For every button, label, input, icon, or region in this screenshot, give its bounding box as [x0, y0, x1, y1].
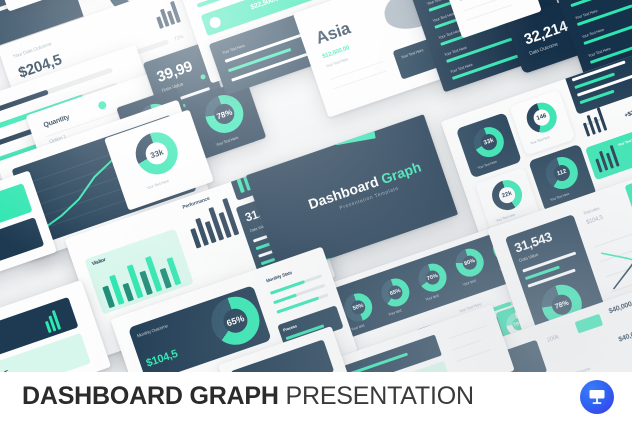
- banner-title: DASHBOARD GRAPH PRESENTATION: [22, 384, 474, 409]
- br-kpi-value-c: $40,000: [618, 329, 632, 343]
- total-sales-label: Total sales: [582, 206, 599, 216]
- performance-label: Performance: [182, 196, 211, 211]
- data-value-number: 39,99: [155, 58, 195, 86]
- gauge-value: 78%: [200, 90, 248, 138]
- banner-title-light: PRESENTATION: [285, 382, 473, 410]
- data-outcome-value: 32,214: [522, 18, 570, 49]
- br-kpi-value-a: 200k: [546, 334, 560, 344]
- title-banner: DASHBOARD GRAPH PRESENTATION: [0, 372, 632, 421]
- br-kpi-value-b: $40,000: [608, 301, 632, 315]
- total-sales-value: $104,5: [586, 215, 604, 226]
- gauge-caption: Your Text Here: [146, 178, 170, 190]
- blank-label: Data Value: [459, 0, 482, 3]
- overall-label: Overall: [228, 160, 241, 164]
- banner-title-bold: DASHBOARD GRAPH: [22, 382, 279, 410]
- poster-root: 65k Your Text Here Your Data Outcome $20…: [0, 0, 632, 421]
- quantity-title: Quantity: [43, 114, 71, 129]
- slide-collage: 65k Your Text Here Your Data Outcome $20…: [0, 0, 632, 372]
- gauge-value: 33k: [130, 127, 183, 180]
- kpi-percent: 72%: [173, 34, 184, 43]
- gauge-caption: Your Text Here: [215, 135, 239, 147]
- asia-title: Asia: [313, 18, 353, 48]
- monthly-stats-title: Monthly Stats: [265, 270, 292, 283]
- amount-value: +$23,999: [624, 106, 632, 119]
- presentation-board-icon[interactable]: [580, 380, 614, 414]
